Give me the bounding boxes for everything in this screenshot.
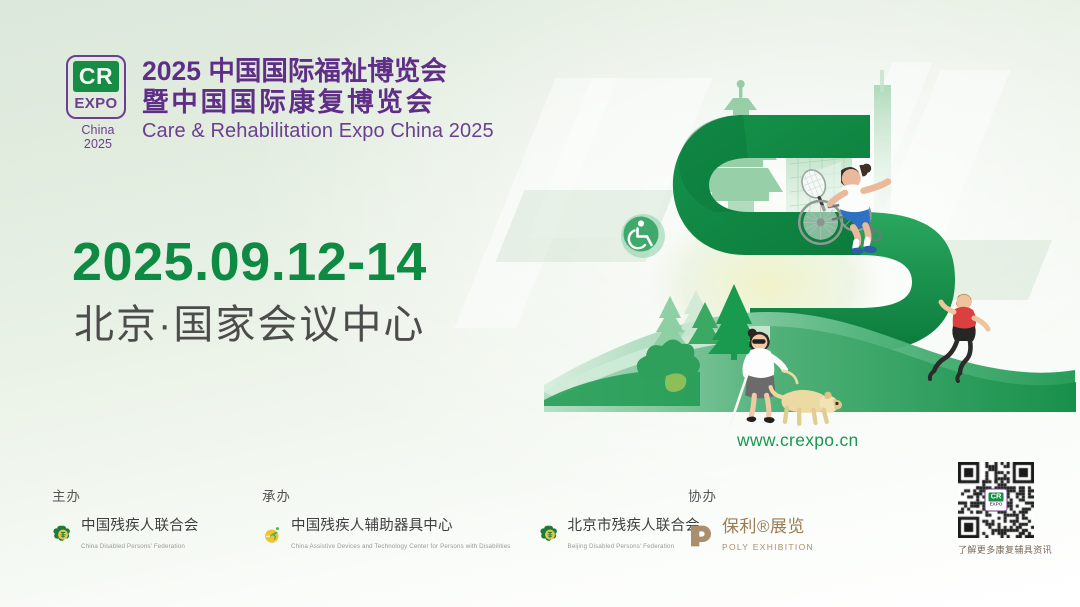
title-line-2: 暨中国国际康复博览会 <box>142 87 494 118</box>
cr-expo-mark-icon: CR EXPO <box>66 55 126 119</box>
title-line-1: 2025 中国国际福祉博览会 <box>142 56 494 87</box>
event-venue: 北京·国家会议中心 <box>74 300 425 350</box>
logo-caption: China 2025 <box>66 123 130 151</box>
event-logo-block: CR EXPO China 2025 2025 中国国际福祉博览会 暨中国国际康… <box>66 55 494 151</box>
sponsor-role-label: 承办 <box>262 485 700 505</box>
title-line-english: Care & Rehabilitation Expo China 2025 <box>142 119 494 143</box>
qr-logo-expo: EXPO <box>990 501 1003 507</box>
qr-center-logo-icon: CR EXPO <box>985 489 1008 512</box>
event-date: 2025.09.12-14 <box>72 235 427 289</box>
sponsor-org: 中国残疾人辅助器具中心 China Assistive Devices and … <box>262 517 511 553</box>
sponsor-name-cn: 保利®展览 <box>722 517 805 536</box>
cr-green-square: CR <box>73 61 119 92</box>
title-stack: 2025 中国国际福祉博览会 暨中国国际康复博览会 Care & Rehabil… <box>142 55 494 143</box>
expo-banner: CR EXPO China 2025 2025 中国国际福祉博览会 暨中国国际康… <box>0 0 1080 607</box>
cr-expo-logo: CR EXPO China 2025 <box>66 55 130 151</box>
sponsor-name-cn: 中国残疾人辅助器具中心 <box>291 518 453 534</box>
cr-letters: CR <box>79 65 113 88</box>
website-url[interactable]: www.crexpo.cn <box>737 430 859 451</box>
sponsor-name-cn: 中国残疾人联合会 <box>81 518 199 534</box>
sponsor-group-cohost: 协办 保利®展览 POLY EXHIBITION <box>688 485 814 555</box>
qr-logo-cr: CR <box>989 493 1004 502</box>
sponsor-name-en: China Disabled Persons' Federation <box>81 543 185 550</box>
sponsor-org: 保利®展览 POLY EXHIBITION <box>688 517 814 555</box>
green-flower-seal-icon <box>52 524 74 546</box>
hero-illustration <box>500 40 1080 450</box>
yellow-green-runner-icon <box>262 524 284 546</box>
qr-caption: 了解更多康复辅具资讯 <box>958 543 1034 556</box>
sponsor-org: 北京市残疾人联合会 Beijing Disabled Persons' Fede… <box>539 517 700 553</box>
sponsor-role-label: 主办 <box>52 485 199 505</box>
sponsor-group-organizer: 承办 中国残疾人辅助器具中心 China Assistive Devices a… <box>262 485 700 553</box>
green-flower-seal-icon <box>539 524 561 546</box>
poly-p-mark-icon <box>688 523 714 549</box>
sponsor-org: 中国残疾人联合会 China Disabled Persons' Federat… <box>52 517 199 553</box>
qr-code-block[interactable]: CR EXPO 了解更多康复辅具资讯 <box>958 462 1034 556</box>
qr-code-image[interactable]: CR EXPO <box>958 462 1034 538</box>
sponsor-role-label: 协办 <box>688 485 814 505</box>
sponsor-group-host: 主办 中国残疾人联合会 China Disabled Persons' Fede… <box>52 485 199 553</box>
expo-letters: EXPO <box>74 96 117 111</box>
sponsor-name-cn: 北京市残疾人联合会 <box>568 518 700 534</box>
sponsor-name-en: China Assistive Devices and Technology C… <box>291 543 511 550</box>
sponsor-name-en: POLY EXHIBITION <box>722 542 814 552</box>
sponsor-name-en: Beijing Disabled Persons' Federation <box>568 543 675 550</box>
